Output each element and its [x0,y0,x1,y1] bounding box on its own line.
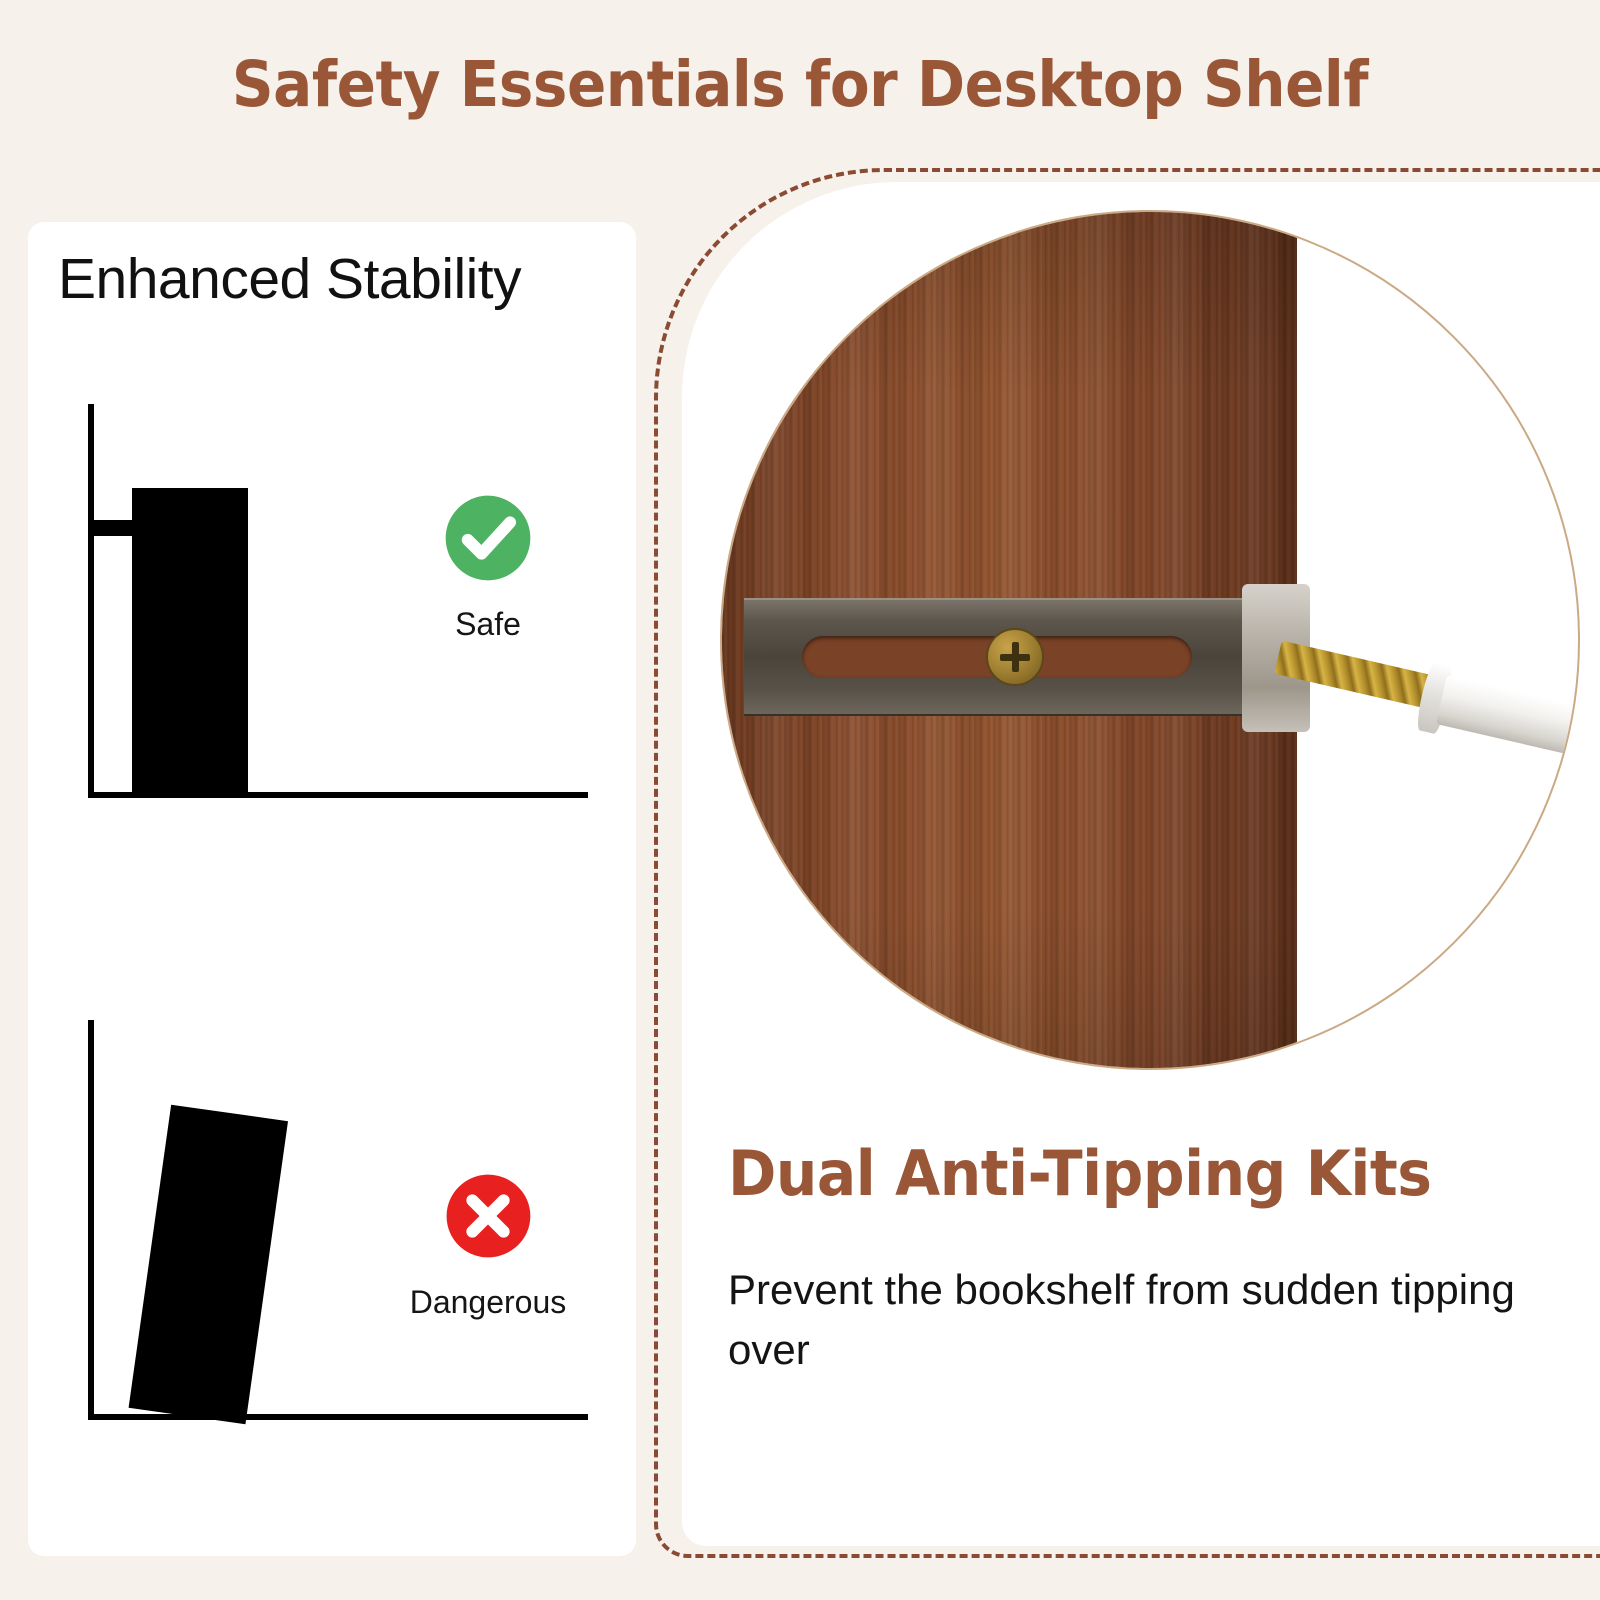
left-card-title: Enhanced Stability [58,246,521,312]
floor-line-danger [88,1414,588,1420]
safe-status-group: Safe [373,492,603,643]
white-wall-anchor [1415,665,1580,786]
enhanced-stability-card: Enhanced Stability Safe [28,222,636,1556]
wall-line-danger [88,1020,94,1420]
safe-status-label: Safe [373,606,603,643]
infographic-page: Safety Essentials for Desktop Shelf Enha… [0,0,1600,1600]
right-panel-body: Prevent the bookshelf from sudden tippin… [728,1260,1538,1379]
brass-screw-icon [986,628,1044,686]
check-circle-icon [442,492,534,584]
anchor-body [1436,675,1580,780]
dangerous-diagram: Dangerous [28,992,636,1562]
safe-diagram: Safe [28,372,636,982]
shelf-block-upright [132,488,248,794]
page-title: Safety Essentials for Desktop Shelf [64,48,1536,121]
right-panel-heading: Dual Anti-Tipping Kits [728,1137,1432,1210]
dangerous-status-group: Dangerous [373,1170,603,1321]
anchor-bracket-tick [88,520,136,536]
wall-line-safe [88,404,94,794]
shelf-block-tilted [129,1105,288,1424]
metal-bracket-strap [744,598,1309,716]
anti-tipping-card: Dual Anti-Tipping Kits Prevent the books… [682,182,1600,1546]
x-circle-icon [442,1170,534,1262]
hardware-photo [720,210,1580,1070]
dangerous-status-label: Dangerous [373,1284,603,1321]
